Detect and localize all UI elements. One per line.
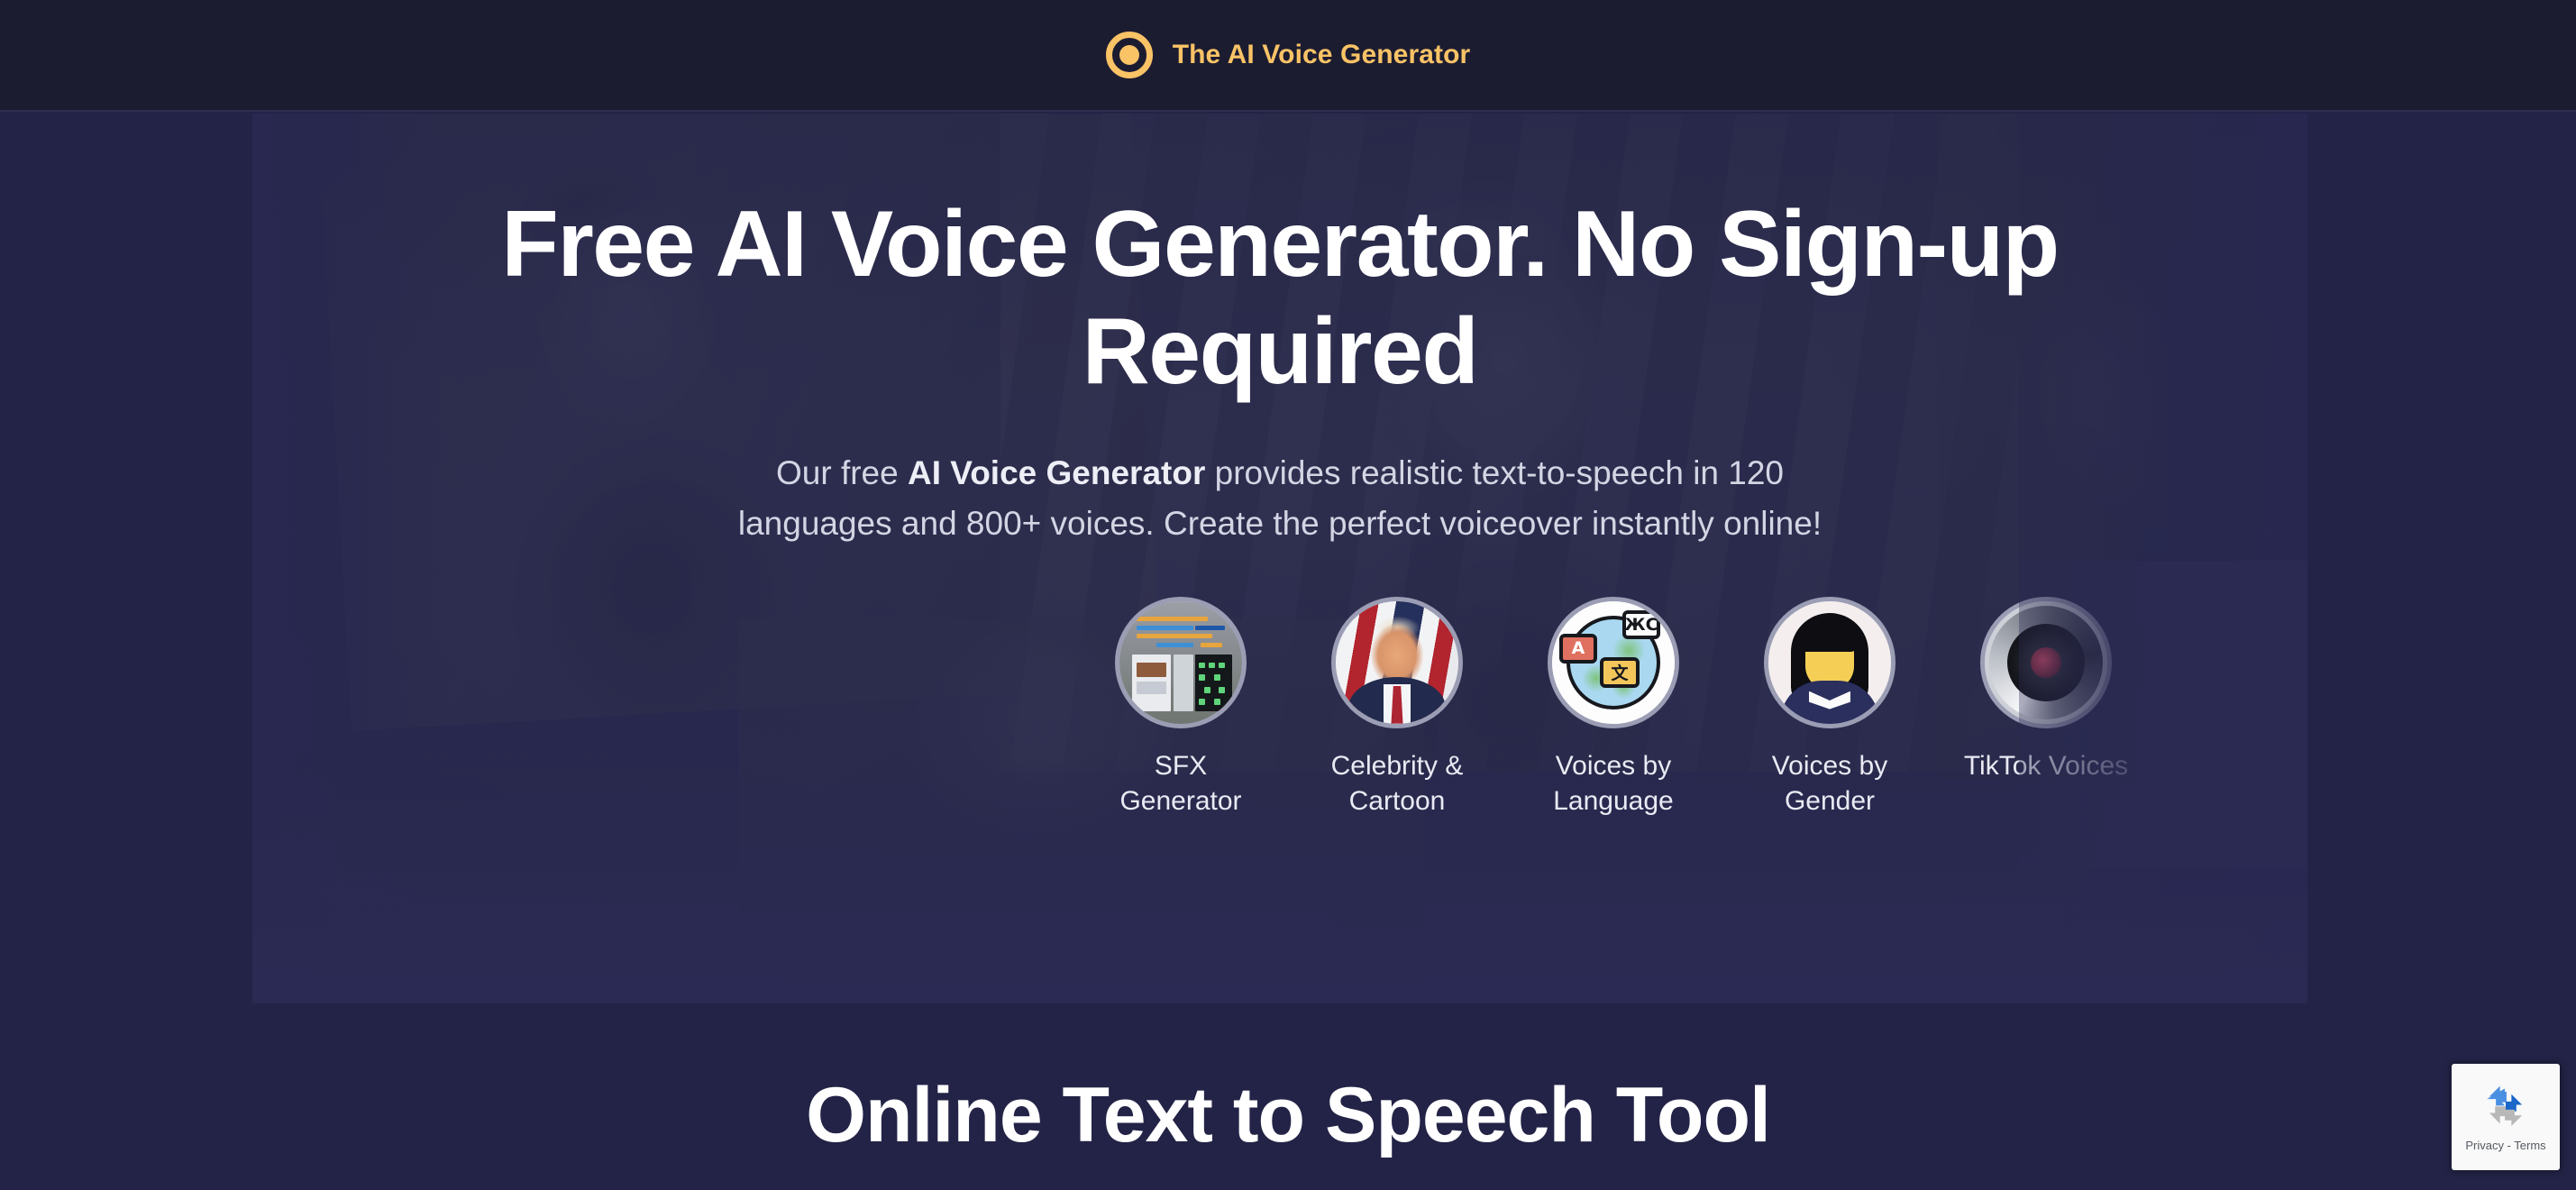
- female-avatar-icon: [1764, 597, 1895, 728]
- hero-subtitle: Our free AI Voice Generator provides rea…: [703, 448, 1857, 549]
- category-item-celebrity-cartoon[interactable]: Celebrity & Cartoon: [1289, 597, 1505, 819]
- category-item-voices-by-language[interactable]: ЖС A 文 Voices by Language: [1505, 597, 1722, 819]
- hero-subtitle-before: Our free: [776, 454, 908, 491]
- daw-software-icon: [1115, 597, 1247, 728]
- tiktok-record-icon: [1980, 597, 2112, 728]
- globe-translate-icon: ЖС A 文: [1548, 597, 1679, 728]
- category-track: SFX Generator Celebrity & Cartoon: [1073, 597, 2154, 819]
- logo-inner-dot: [1119, 45, 1139, 65]
- category-item-sfx-generator[interactable]: SFX Generator: [1073, 597, 1289, 819]
- recaptcha-logo-icon: [2480, 1083, 2532, 1135]
- category-label: TikTok Voices: [1960, 748, 2132, 784]
- target-ring-icon: [1106, 32, 1153, 78]
- celebrity-portrait-icon: [1331, 597, 1463, 728]
- section-heading-text-to-speech: Online Text to Speech Tool: [0, 1071, 2576, 1160]
- hero-banner: Free AI Voice Generator. No Sign-up Requ…: [252, 114, 2307, 1003]
- category-item-tiktok-voices[interactable]: TikTok Voices: [1938, 597, 2154, 819]
- category-item-voices-by-gender[interactable]: Voices by Gender: [1722, 597, 1938, 819]
- hero-subtitle-bold: AI Voice Generator: [908, 454, 1205, 491]
- category-label: Celebrity & Cartoon: [1311, 748, 1483, 819]
- brand-link[interactable]: The AI Voice Generator: [1106, 32, 1471, 78]
- category-label: Voices by Gender: [1744, 748, 1915, 819]
- recaptcha-terms-label[interactable]: Privacy - Terms: [2465, 1139, 2545, 1152]
- site-header: The AI Voice Generator: [0, 0, 2576, 112]
- recaptcha-badge[interactable]: Privacy - Terms: [2452, 1064, 2560, 1170]
- hero-title: Free AI Voice Generator. No Sign-up Requ…: [370, 191, 2190, 405]
- category-label: Voices by Language: [1528, 748, 1699, 819]
- brand-name: The AI Voice Generator: [1173, 40, 1471, 70]
- category-label: SFX Generator: [1095, 748, 1266, 819]
- hero-content: Free AI Voice Generator. No Sign-up Requ…: [252, 114, 2307, 1003]
- category-carousel[interactable]: SFX Generator Celebrity & Cartoon: [252, 597, 2307, 831]
